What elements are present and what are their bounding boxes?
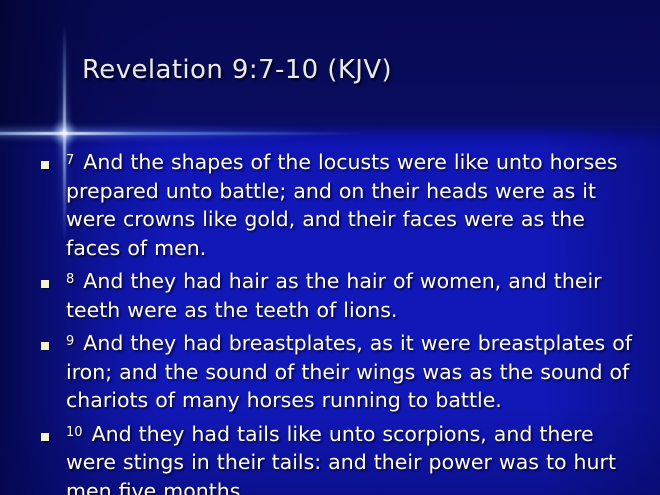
verse-paragraph: 9 And they had breastplates, as it were …: [66, 329, 646, 415]
list-item: 10 And they had tails like unto scorpion…: [34, 420, 646, 495]
list-item: 8 And they had hair as the hair of women…: [34, 267, 646, 324]
bullet-square-icon: [41, 342, 49, 350]
list-item: 9 And they had breastplates, as it were …: [34, 329, 646, 415]
list-item: 7 And the shapes of the locusts were lik…: [34, 148, 646, 262]
verse-body: And they had breastplates, as it were br…: [66, 331, 632, 412]
verse-list: 7 And the shapes of the locusts were lik…: [34, 148, 646, 495]
slide-title: Revelation 9:7-10 (KJV): [82, 54, 392, 86]
verse-body: And they had tails like unto scorpions, …: [66, 422, 616, 495]
presentation-slide: Revelation 9:7-10 (KJV) 7 And the shapes…: [0, 0, 660, 495]
verse-paragraph: 10 And they had tails like unto scorpion…: [66, 420, 646, 495]
verse-number: 8: [66, 272, 76, 287]
verse-paragraph: 8 And they had hair as the hair of women…: [66, 267, 646, 324]
verse-number: 7: [66, 153, 76, 168]
bullet-square-icon: [41, 280, 49, 288]
verse-number: 9: [66, 334, 76, 349]
verse-number: 10: [66, 425, 85, 440]
verse-paragraph: 7 And the shapes of the locusts were lik…: [66, 148, 646, 262]
verse-body: And the shapes of the locusts were like …: [66, 150, 618, 260]
verse-body: And they had hair as the hair of women, …: [66, 269, 602, 322]
bullet-square-icon: [41, 433, 49, 441]
bullet-square-icon: [41, 161, 49, 169]
